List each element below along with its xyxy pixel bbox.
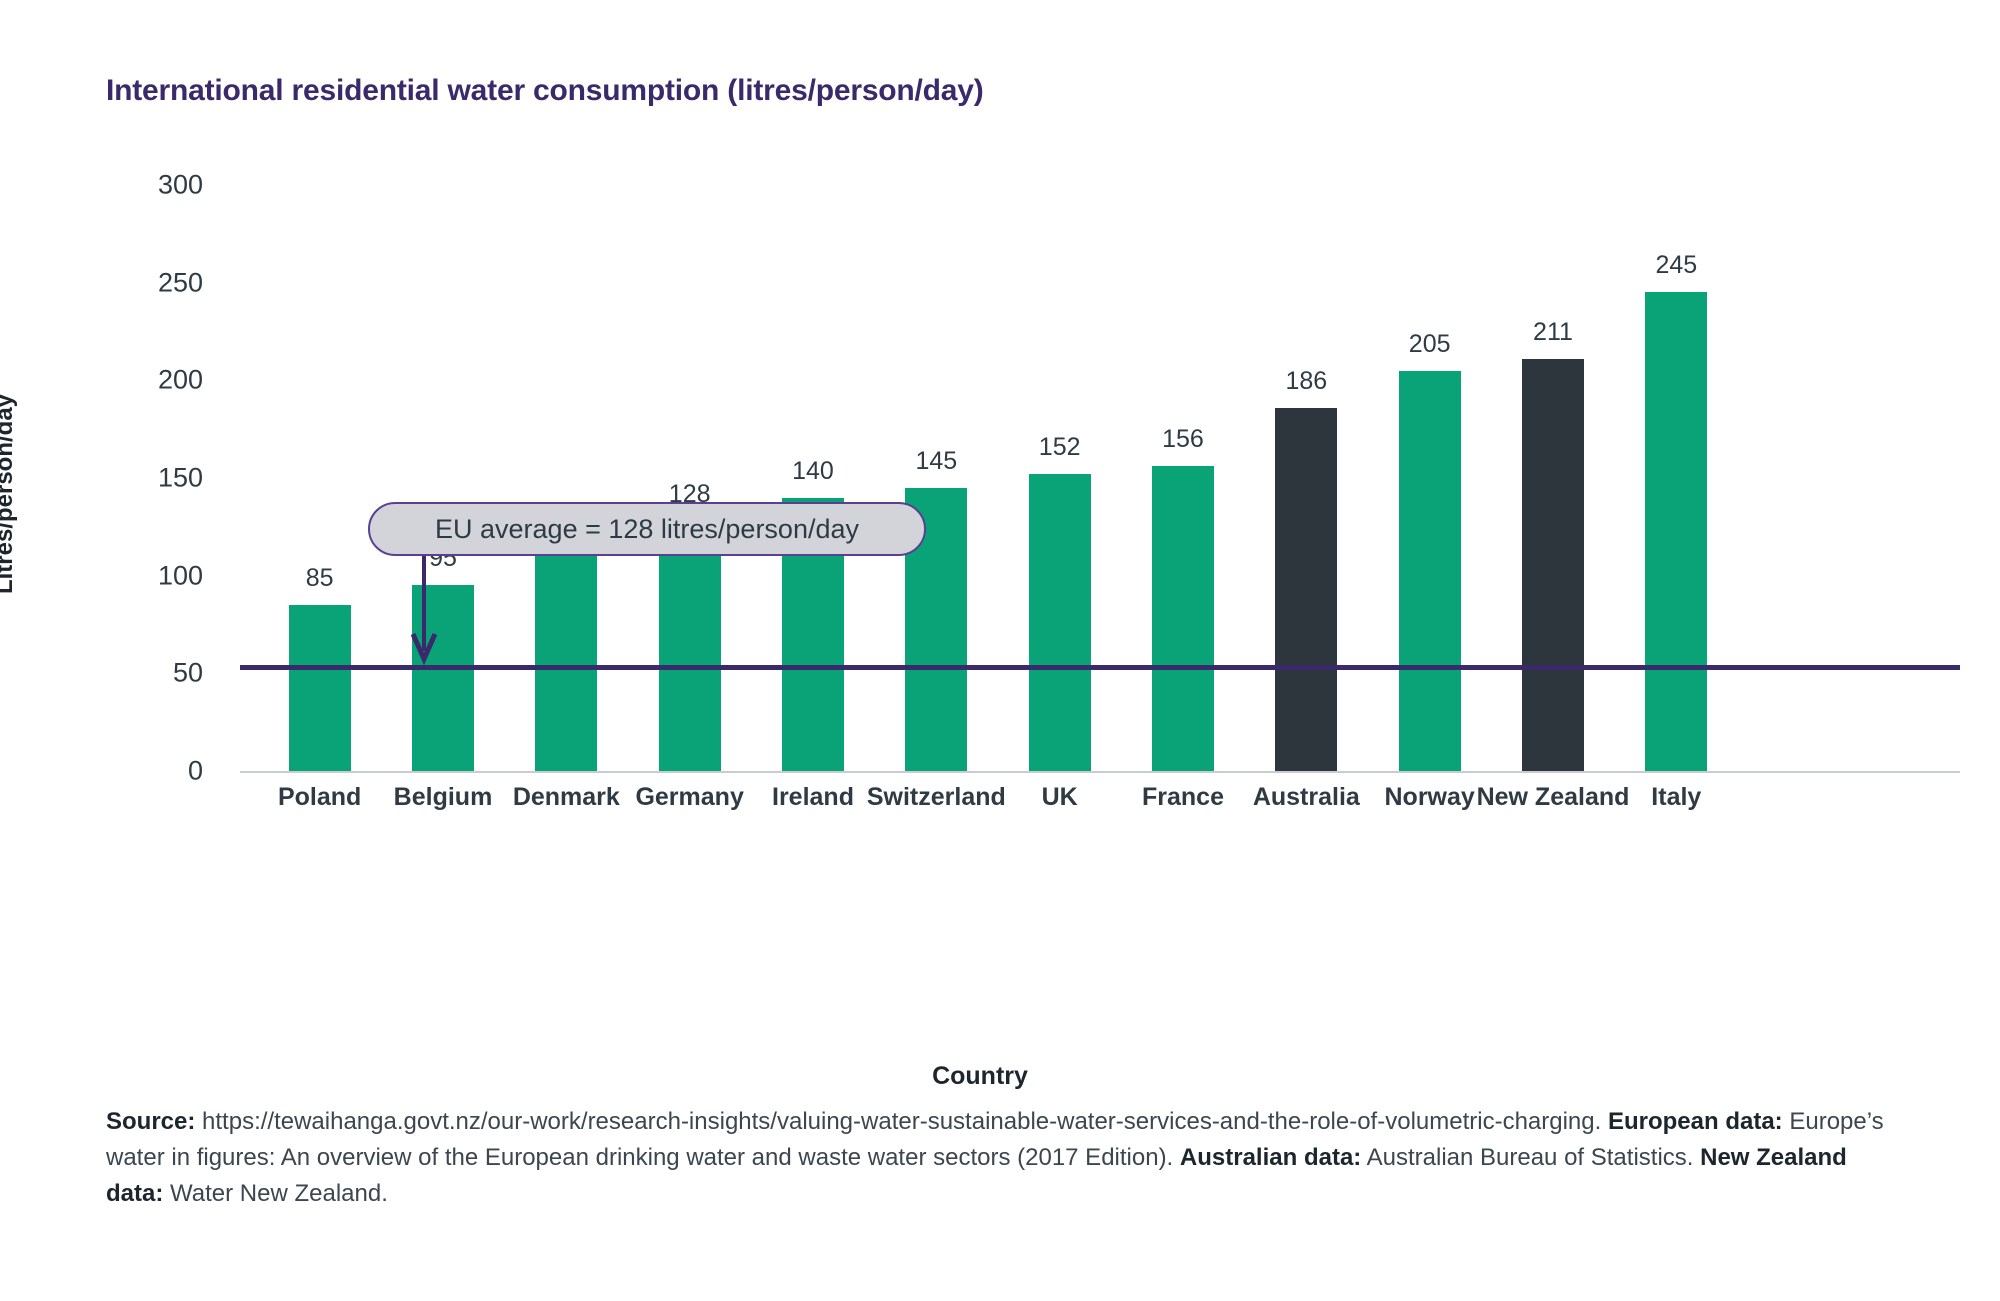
x-tick-ireland: Ireland: [772, 783, 854, 812]
bar-value-label: 145: [915, 447, 957, 476]
bar-group: 95Belgium: [381, 185, 504, 771]
eu-average-callout-text: EU average = 128 litres/person/day: [435, 514, 859, 545]
bar-value-label: 245: [1655, 251, 1697, 280]
bar-group: 156France: [1121, 185, 1244, 771]
x-axis-baseline: [240, 771, 1960, 773]
european-data-label: European data:: [1608, 1108, 1783, 1135]
x-tick-denmark: Denmark: [513, 783, 620, 812]
page-title: International residential water consumpt…: [106, 74, 984, 108]
callout-arrow-icon: [411, 556, 437, 668]
bar-poland[interactable]: [289, 605, 351, 771]
x-tick-poland: Poland: [278, 783, 361, 812]
bar-australia[interactable]: [1275, 408, 1337, 771]
bar-group: 152UK: [998, 185, 1121, 771]
source-label: Source:: [106, 1108, 195, 1135]
bar-denmark[interactable]: [535, 556, 597, 771]
plot-area: 85Poland95Belgium110Denmark128Germany140…: [240, 185, 1960, 771]
bar-group: 245Italy: [1615, 185, 1738, 771]
y-tick-300: 300: [0, 170, 225, 201]
x-tick-switzerland: Switzerland: [867, 783, 1006, 812]
source-note: Source: https://tewaihanga.govt.nz/our-w…: [106, 1104, 1896, 1212]
y-tick-250: 250: [0, 267, 225, 298]
y-axis-title: Litres/person/day: [0, 284, 19, 704]
x-tick-germany: Germany: [635, 783, 743, 812]
x-tick-uk: UK: [1042, 783, 1078, 812]
x-tick-italy: Italy: [1651, 783, 1701, 812]
x-tick-norway: Norway: [1385, 783, 1475, 812]
bar-germany[interactable]: [659, 521, 721, 771]
bar-italy[interactable]: [1645, 292, 1707, 771]
bar-group: 186Australia: [1245, 185, 1368, 771]
bar-group: 145Switzerland: [875, 185, 998, 771]
bar-france[interactable]: [1152, 466, 1214, 771]
australian-data-text: Australian Bureau of Statistics.: [1367, 1144, 1694, 1171]
bar-value-label: 156: [1162, 425, 1204, 454]
y-tick-100: 100: [0, 560, 225, 591]
bar-group: 110Denmark: [505, 185, 628, 771]
bar-group: 85Poland: [258, 185, 381, 771]
x-tick-new-zealand: New Zealand: [1477, 783, 1630, 812]
bar-group: 128Germany: [628, 185, 751, 771]
bar-value-label: 211: [1533, 318, 1573, 347]
y-tick-150: 150: [0, 463, 225, 494]
bar-value-label: 140: [792, 457, 834, 486]
eu-average-reference-line: [240, 665, 1960, 670]
bar-value-label: 205: [1409, 330, 1451, 359]
bar-new-zealand[interactable]: [1522, 359, 1584, 771]
bar-norway[interactable]: [1399, 371, 1461, 771]
y-tick-0: 0: [0, 756, 225, 787]
x-tick-australia: Australia: [1253, 783, 1360, 812]
x-tick-belgium: Belgium: [394, 783, 493, 812]
bar-group: 211New Zealand: [1491, 185, 1614, 771]
eu-average-callout: EU average = 128 litres/person/day: [368, 502, 926, 556]
y-tick-50: 50: [0, 658, 225, 689]
bar-group: 140Ireland: [751, 185, 874, 771]
source-url: https://tewaihanga.govt.nz/our-work/rese…: [202, 1108, 1601, 1135]
bar-value-label: 152: [1039, 433, 1081, 462]
nz-data-text: Water New Zealand.: [170, 1180, 388, 1207]
bar-value-label: 186: [1285, 367, 1327, 396]
australian-data-label: Australian data:: [1180, 1144, 1361, 1171]
bar-value-label: 85: [306, 564, 334, 593]
y-tick-200: 200: [0, 365, 225, 396]
x-tick-france: France: [1142, 783, 1224, 812]
bar-uk[interactable]: [1029, 474, 1091, 771]
bar-group: 205Norway: [1368, 185, 1491, 771]
x-axis-title: Country: [240, 1062, 1720, 1091]
